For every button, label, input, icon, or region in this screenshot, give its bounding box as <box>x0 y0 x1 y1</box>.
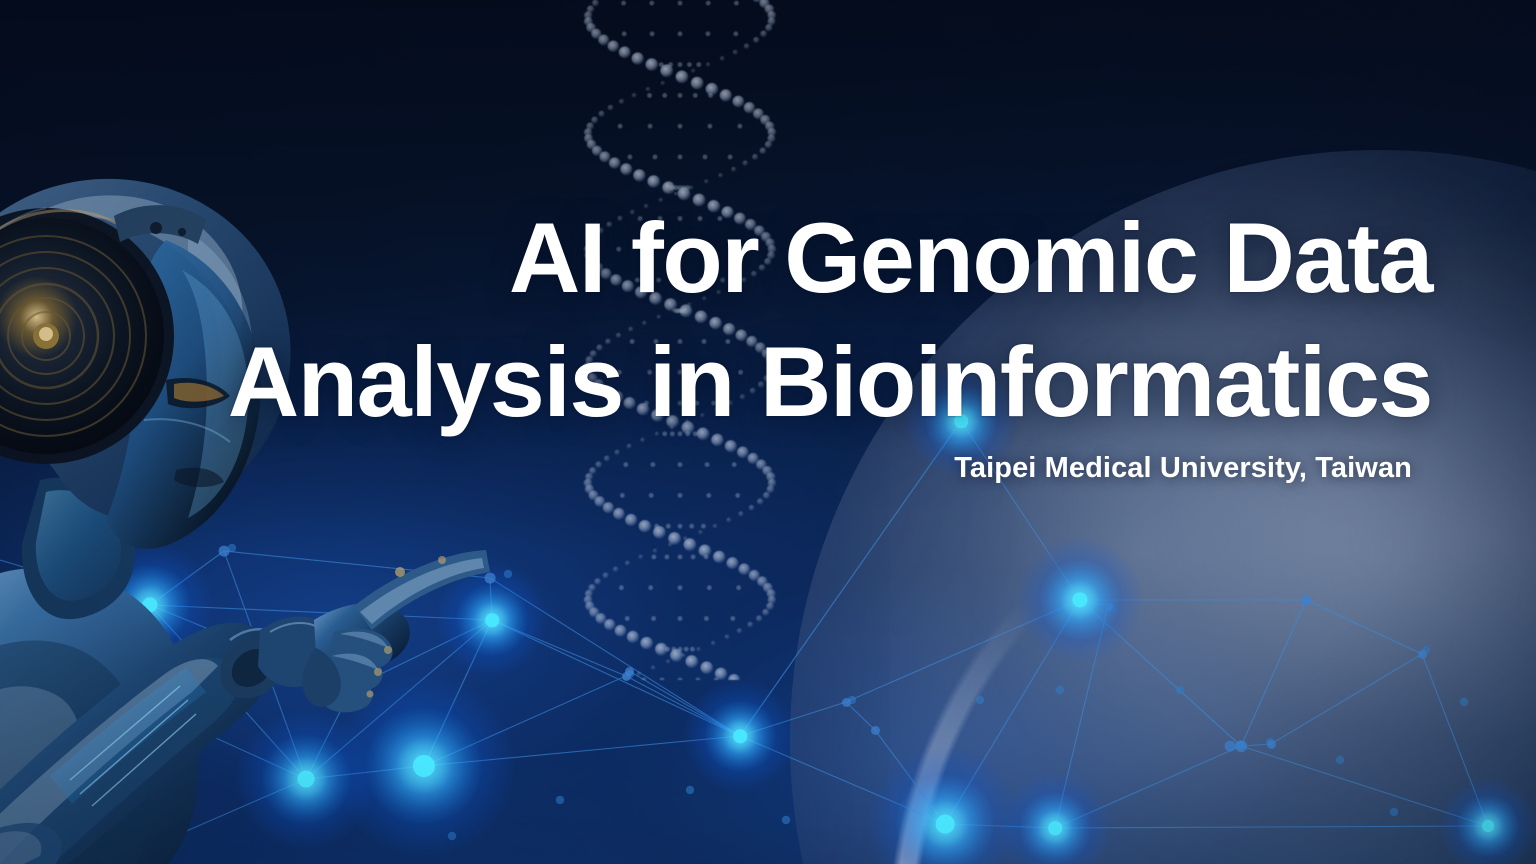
affiliation-subtitle: Taipei Medical University, Taiwan <box>200 452 1412 485</box>
presentation-slide: AI for Genomic Data Analysis in Bioinfor… <box>0 0 1536 864</box>
title-line-2: Analysis in Bioinformatics <box>200 320 1432 444</box>
page-title: AI for Genomic Data Analysis in Bioinfor… <box>200 196 1432 444</box>
title-line-1: AI for Genomic Data <box>200 196 1432 320</box>
